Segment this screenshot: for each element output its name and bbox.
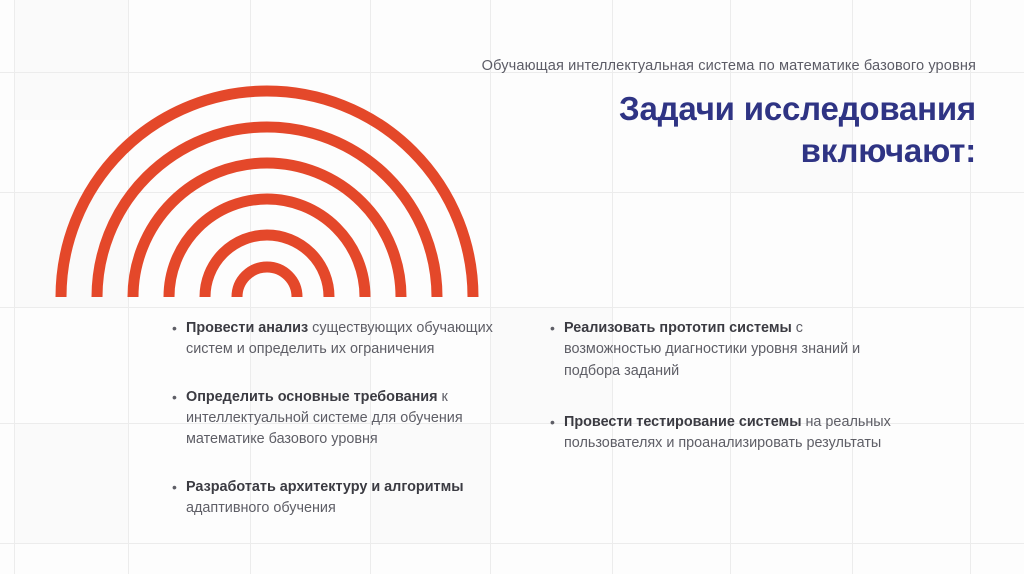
list-item: • Определить основные требования к интел… (172, 387, 520, 451)
list-item-rest: адаптивного обучения (186, 500, 336, 516)
list-item-text: Разработать архитектуру и алгоритмы адап… (186, 477, 520, 520)
bullet-dot-icon: • (550, 412, 564, 455)
list-item: • Провести тестирование системы на реаль… (550, 412, 898, 455)
list-item-lead: Определить основные требования (186, 389, 438, 405)
slide-subtitle: Обучающая интеллектуальная система по ма… (216, 57, 976, 76)
bullet-dot-icon: • (172, 387, 186, 451)
bullet-dot-icon: • (172, 318, 186, 361)
bullet-column-right: • Реализовать прототип системы с возможн… (550, 318, 898, 519)
list-item-lead: Разработать архитектуру и алгоритмы (186, 479, 464, 495)
list-item-lead: Провести анализ (186, 320, 308, 336)
grid-line-vertical (14, 0, 15, 574)
list-item: • Провести анализ существующих обучающих… (172, 318, 520, 361)
list-item-lead: Реализовать прототип системы (564, 320, 792, 336)
list-item-text: Реализовать прототип системы с возможнос… (564, 318, 898, 382)
list-item-text: Определить основные требования к интелле… (186, 387, 520, 451)
page-title: Задачи исследования включают: (236, 88, 976, 172)
list-item: • Реализовать прототип системы с возможн… (550, 318, 898, 382)
bullet-columns: • Провести анализ существующих обучающих… (172, 318, 972, 519)
rainbow-arc-6 (237, 267, 297, 297)
bullet-dot-icon: • (172, 477, 186, 520)
list-item-text: Провести анализ существующих обучающих с… (186, 318, 520, 361)
rainbow-arc-4 (169, 199, 365, 297)
page-title-line-2: включают: (236, 130, 976, 172)
slide-canvas: Обучающая интеллектуальная система по ма… (0, 0, 1024, 574)
grid-tint-cell (14, 423, 128, 543)
list-item-text: Провести тестирование системы на реальны… (564, 412, 898, 455)
bullet-dot-icon: • (550, 318, 564, 382)
page-title-line-1: Задачи исследования (236, 88, 976, 130)
bullet-column-left: • Провести анализ существующих обучающих… (172, 318, 520, 519)
list-item: • Разработать архитектуру и алгоритмы ад… (172, 477, 520, 520)
list-item-lead: Провести тестирование системы (564, 414, 801, 430)
grid-line-horizontal (0, 543, 1024, 544)
